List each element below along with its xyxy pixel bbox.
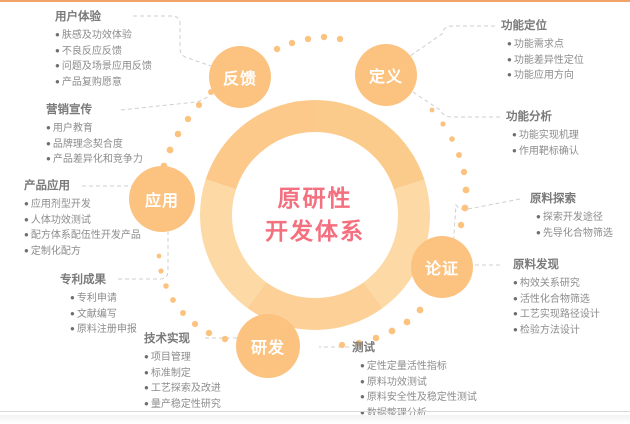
list-item: 不良反应反馈 — [55, 44, 152, 60]
center-title-line1: 原研性 — [278, 182, 353, 215]
diagram-canvas: 原研性 开发体系 反馈 定义 论证 研发 应用 用户体验 肤感及功效体验 不良反… — [0, 0, 630, 424]
block-marketing-title: 营销宣传 — [46, 101, 143, 117]
block-product-application-items: 应用剂型开发 人体功效测试 配方体系配伍性开发产品 定制化配方 — [24, 197, 141, 259]
list-item: 功能实现机理 — [512, 128, 579, 144]
block-tech-implementation-items: 项目管理 标准制定 工艺探索及改进 量产稳定性研究 — [144, 350, 221, 412]
list-item: 产品差异化和竞争力 — [46, 152, 143, 168]
node-feedback-label: 反馈 — [223, 65, 257, 89]
block-testing: 测试 定性定量活性指标 原料功效测试 原料安全性及稳定性测试 数据整理分析 — [352, 339, 477, 421]
list-item: 量产稳定性研究 — [144, 397, 221, 413]
node-define-label: 定义 — [369, 63, 403, 87]
block-function-analysis-items: 功能实现机理 作用靶标确认 — [506, 128, 579, 159]
node-rd[interactable]: 研发 — [236, 314, 300, 378]
list-item: 定制化配方 — [24, 244, 141, 260]
list-item: 专利申请 — [70, 291, 137, 307]
block-tech-implementation: 技术实现 项目管理 标准制定 工艺探索及改进 量产稳定性研究 — [144, 330, 221, 412]
node-argue[interactable]: 论证 — [411, 236, 473, 298]
bottom-shadow-band — [0, 415, 630, 424]
list-item: 原料注册申报 — [70, 322, 137, 338]
center-donut: 原研性 开发体系 — [200, 100, 430, 330]
block-patent-results-title: 专利成果 — [60, 271, 137, 287]
list-item: 功能应用方向 — [507, 68, 584, 84]
block-user-experience-title: 用户体验 — [55, 8, 152, 24]
list-item: 作用靶标确认 — [512, 144, 579, 160]
top-accent-rule — [0, 0, 630, 2]
block-raw-material-exploration-title: 原料探索 — [530, 190, 613, 206]
list-item: 原料功效测试 — [360, 375, 477, 391]
list-item: 功能需求点 — [507, 37, 584, 53]
list-item: 功能差异性定位 — [507, 53, 584, 69]
block-patent-results: 专利成果 专利申请 文献编写 原料注册申报 — [60, 271, 137, 338]
list-item: 文献编写 — [70, 307, 137, 323]
list-item: 定性定量活性指标 — [360, 359, 477, 375]
list-item: 构效关系研究 — [513, 276, 600, 292]
block-function-positioning-title: 功能定位 — [501, 17, 584, 33]
list-item: 工艺实现路径设计 — [513, 307, 600, 323]
block-raw-material-discovery: 原料发现 构效关系研究 活性化合物筛选 工艺实现路径设计 检验方法设计 — [513, 256, 600, 338]
list-item: 项目管理 — [144, 350, 221, 366]
block-function-analysis: 功能分析 功能实现机理 作用靶标确认 — [506, 108, 579, 159]
node-argue-label: 论证 — [425, 255, 459, 279]
center-title-line2: 开发体系 — [265, 215, 365, 248]
list-item: 先导化合物筛选 — [536, 226, 613, 242]
list-item: 标准制定 — [144, 366, 221, 382]
block-user-experience: 用户体验 肤感及功效体验 不良反应反馈 问题及场景应用反馈 产品复购愿意 — [55, 8, 152, 90]
block-product-application-title: 产品应用 — [24, 177, 141, 193]
block-user-experience-items: 肤感及功效体验 不良反应反馈 问题及场景应用反馈 产品复购愿意 — [55, 28, 152, 90]
node-feedback[interactable]: 反馈 — [209, 46, 271, 108]
list-item: 人体功效测试 — [24, 213, 141, 229]
list-item: 用户教育 — [46, 121, 143, 137]
block-testing-title: 测试 — [352, 339, 477, 355]
block-marketing-items: 用户教育 品牌理念契合度 产品差异化和竞争力 — [46, 121, 143, 168]
block-function-analysis-title: 功能分析 — [506, 108, 579, 124]
list-item: 配方体系配伍性开发产品 — [24, 228, 141, 244]
block-product-application: 产品应用 应用剂型开发 人体功效测试 配方体系配伍性开发产品 定制化配方 — [24, 177, 141, 259]
list-item: 肤感及功效体验 — [55, 28, 152, 44]
center-label: 原研性 开发体系 — [200, 100, 430, 330]
block-raw-material-discovery-title: 原料发现 — [513, 256, 600, 272]
list-item: 检验方法设计 — [513, 323, 600, 339]
block-raw-material-exploration: 原料探索 探索开发途径 先导化合物筛选 — [530, 190, 613, 241]
node-define[interactable]: 定义 — [355, 44, 417, 106]
node-rd-label: 研发 — [251, 334, 285, 358]
list-item: 产品复购愿意 — [55, 75, 152, 91]
list-item: 应用剂型开发 — [24, 197, 141, 213]
list-item: 问题及场景应用反馈 — [55, 59, 152, 75]
block-tech-implementation-title: 技术实现 — [144, 330, 221, 346]
leader-function-positioning — [410, 26, 495, 56]
list-item: 品牌理念契合度 — [46, 137, 143, 153]
node-apply-label: 应用 — [145, 187, 179, 211]
list-item: 活性化合物筛选 — [513, 292, 600, 308]
block-patent-results-items: 专利申请 文献编写 原料注册申报 — [60, 291, 137, 338]
block-raw-material-discovery-items: 构效关系研究 活性化合物筛选 工艺实现路径设计 检验方法设计 — [513, 276, 600, 338]
bottom-divider — [0, 411, 630, 412]
block-function-positioning: 功能定位 功能需求点 功能差异性定位 功能应用方向 — [501, 17, 584, 84]
block-function-positioning-items: 功能需求点 功能差异性定位 功能应用方向 — [501, 37, 584, 84]
block-raw-material-exploration-items: 探索开发途径 先导化合物筛选 — [530, 210, 613, 241]
block-marketing: 营销宣传 用户教育 品牌理念契合度 产品差异化和竞争力 — [46, 101, 143, 168]
list-item: 探索开发途径 — [536, 210, 613, 226]
list-item: 工艺探索及改进 — [144, 381, 221, 397]
list-item: 原料安全性及稳定性测试 — [360, 390, 477, 406]
